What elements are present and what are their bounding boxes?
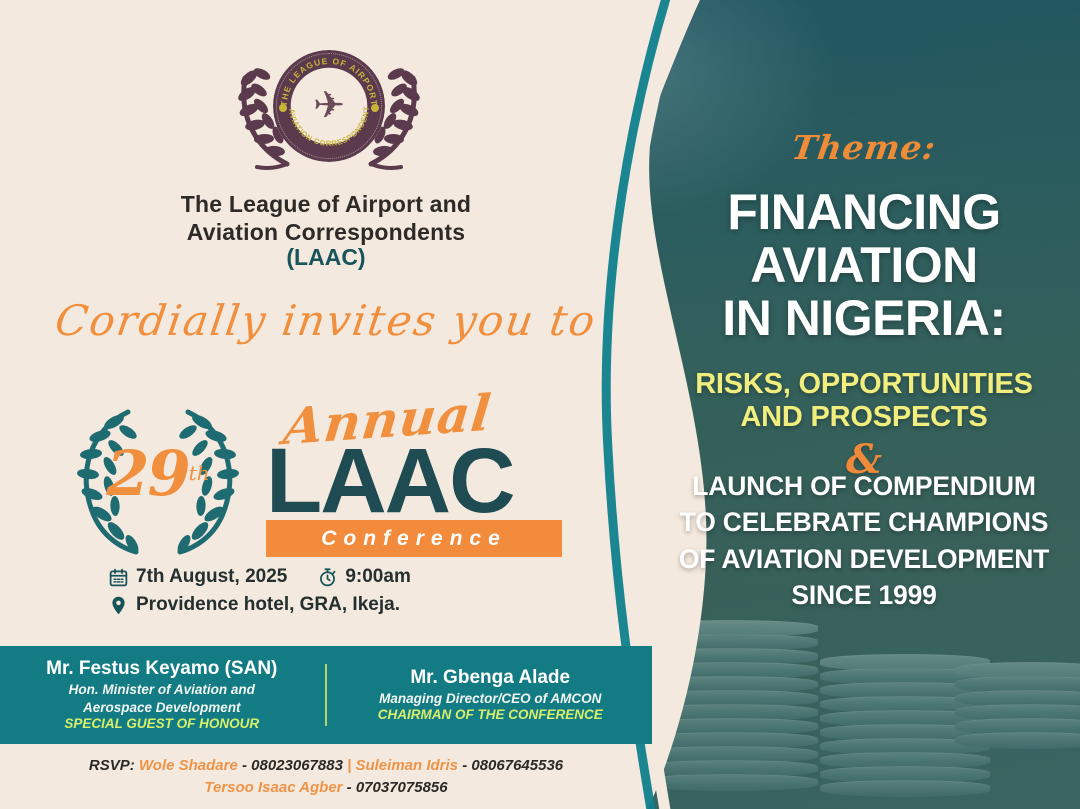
theme-subtitle: RISKS, OPPORTUNITIES AND PROSPECTS — [648, 368, 1080, 434]
theme-title: FINANCING AVIATION IN NIGERIA: — [648, 186, 1080, 345]
emblem-airplane-icon: ✈ — [313, 87, 345, 125]
rsvp-line-1: RSVP: Wole Shadare - 08023067883 | Sulei… — [89, 755, 563, 777]
edition-number: 29th — [70, 392, 246, 554]
conference-word: Conference — [321, 527, 507, 551]
organization-abbreviation: (LAAC) — [0, 244, 652, 271]
theme-subtitle-line1: RISKS, OPPORTUNITIES — [648, 368, 1080, 401]
rsvp-contact-3-phone[interactable]: 07037075856 — [356, 779, 448, 796]
theme-title-line1: FINANCING — [648, 186, 1080, 239]
theme-title-line2: AVIATION — [648, 239, 1080, 292]
conference-lockup: 29th Annual LAAC Conference — [70, 392, 580, 562]
launch-line3: OF AVIATION DEVELOPMENT — [648, 541, 1080, 577]
stopwatch-icon — [317, 567, 338, 588]
theme-title-line3: IN NIGERIA: — [648, 292, 1080, 345]
rsvp-separator: | — [347, 757, 351, 774]
rsvp-line-2: Tersoo Isaac Agber - 07037075856 — [204, 777, 447, 799]
date-time-row: 7th August, 2025 9:00am — [108, 566, 411, 588]
calendar-icon — [108, 567, 129, 588]
rsvp-contact-3-dash: - — [347, 779, 352, 796]
rsvp-contact-2-name: Suleiman Idris — [355, 757, 458, 774]
guest-2-name: Mr. Gbenga Alade — [337, 667, 643, 689]
guest-2-tag: CHAIRMAN OF THE CONFERENCE — [337, 707, 643, 723]
rsvp-contact-1-dash: - — [242, 757, 247, 774]
theme-label: Theme: — [645, 128, 1080, 167]
event-venue: Providence hotel, GRA, Ikeja. — [136, 594, 400, 616]
location-pin-icon — [108, 595, 129, 616]
cordially-invites-text: Cordially invites you to — [0, 296, 655, 345]
event-time: 9:00am — [345, 566, 411, 588]
launch-line4: SINCE 1999 — [648, 577, 1080, 613]
rsvp-contact-1-phone[interactable]: 08023067883 — [251, 757, 343, 774]
guest-1-tag: SPECIAL GUEST OF HONOUR — [9, 716, 315, 732]
guest-block-2: Mr. Gbenga Alade Managing Director/CEO o… — [331, 667, 649, 723]
launch-line1: LAUNCH OF COMPENDIUM — [648, 468, 1080, 504]
guests-band: Mr. Festus Keyamo (SAN) Hon. Minister of… — [0, 646, 652, 744]
rsvp-contact-1-name: Wole Shadare — [139, 757, 238, 774]
edition-number-suffix: th — [189, 461, 210, 485]
event-date: 7th August, 2025 — [136, 566, 287, 588]
laac-emblem: THE LEAGUE OF AIRPORT & AVIATION CORRESP… — [229, 44, 429, 184]
laac-wordmark: LAAC — [266, 438, 514, 525]
guest-2-role-line1: Managing Director/CEO of AMCON — [337, 691, 643, 707]
rsvp-label: RSVP: — [89, 757, 135, 774]
event-details: 7th August, 2025 9:00am Provi — [108, 566, 411, 622]
compendium-launch-text: LAUNCH OF COMPENDIUM TO CELEBRATE CHAMPI… — [648, 468, 1080, 613]
launch-line2: TO CELEBRATE CHAMPIONS — [648, 504, 1080, 540]
org-name-line2: Aviation Correspondents — [0, 218, 652, 246]
guest-1-role-line1: Hon. Minister of Aviation and — [9, 682, 315, 698]
theme-content: Theme: FINANCING AVIATION IN NIGERIA: RI… — [648, 0, 1080, 809]
guest-1-name: Mr. Festus Keyamo (SAN) — [9, 658, 315, 680]
emblem-badge: THE LEAGUE OF AIRPORT & AVIATION CORRESP… — [273, 50, 385, 162]
rsvp-contact-2-dash: - — [462, 757, 467, 774]
flyer-canvas: THE LEAGUE OF AIRPORT & AVIATION CORRESP… — [0, 0, 1080, 809]
organization-name: The League of Airport and Aviation Corre… — [0, 190, 652, 246]
rsvp-section: RSVP: Wole Shadare - 08023067883 | Sulei… — [0, 744, 652, 809]
invitation-panel: THE LEAGUE OF AIRPORT & AVIATION CORRESP… — [0, 0, 652, 646]
guest-block-1: Mr. Festus Keyamo (SAN) Hon. Minister of… — [3, 658, 321, 732]
org-name-line1: The League of Airport and — [0, 190, 652, 218]
guest-1-role-line2: Aerospace Development — [9, 700, 315, 716]
venue-row: Providence hotel, GRA, Ikeja. — [108, 594, 411, 616]
edition-number-value: 29 — [106, 437, 188, 510]
guest-divider — [325, 664, 327, 726]
conference-bar: Conference — [266, 520, 562, 557]
rsvp-contact-2-phone[interactable]: 08067645536 — [471, 757, 563, 774]
rsvp-contact-3-name: Tersoo Isaac Agber — [204, 779, 342, 796]
theme-subtitle-line2: AND PROSPECTS — [648, 401, 1080, 434]
